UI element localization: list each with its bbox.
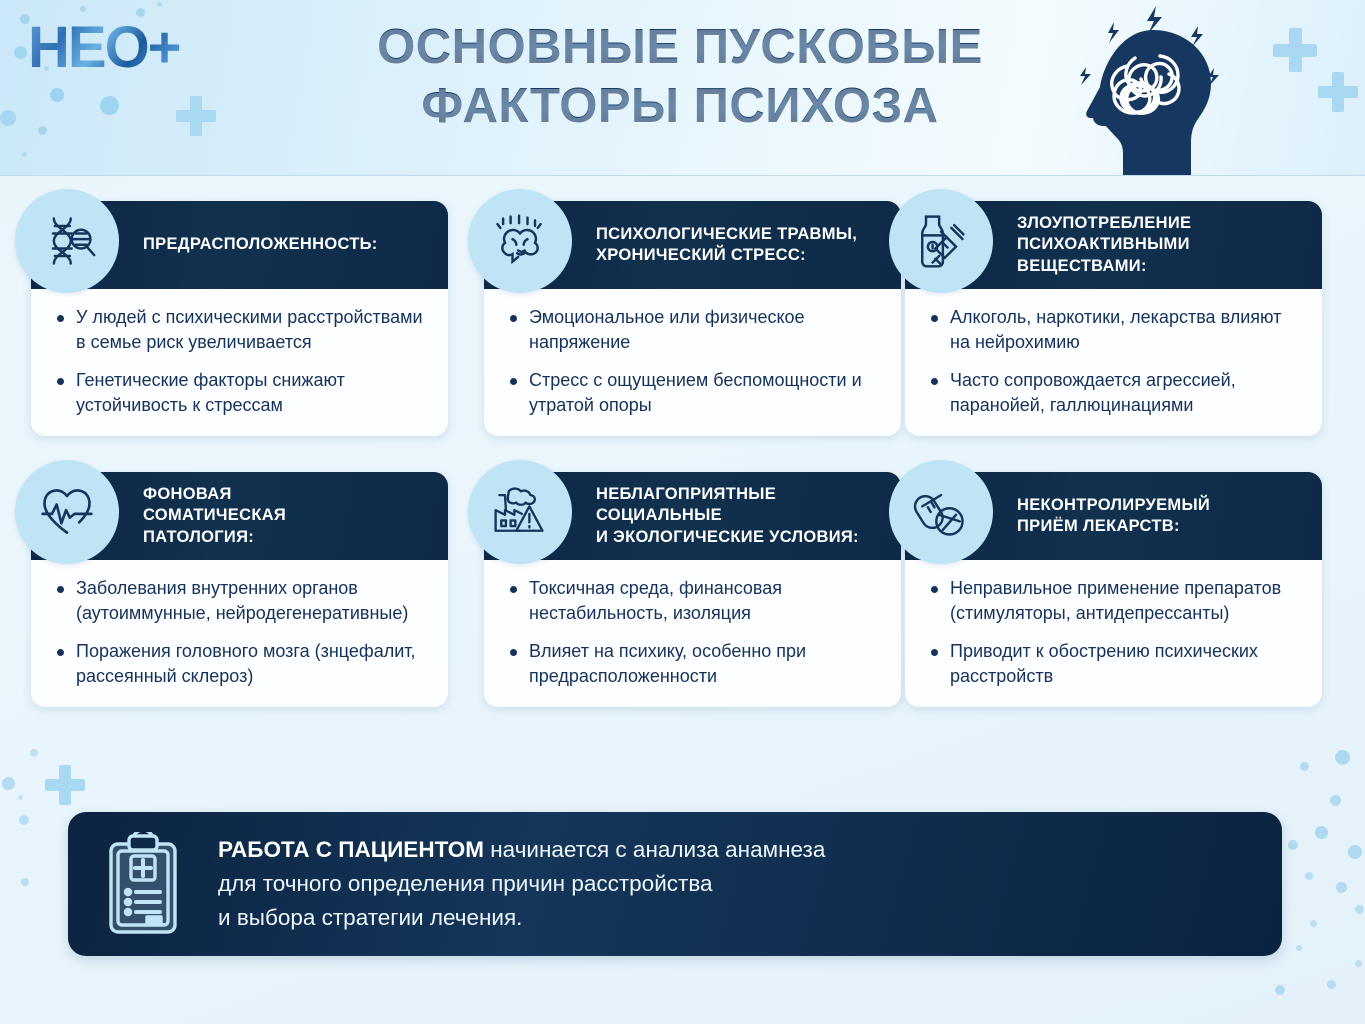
card-header: ЗЛОУПОТРЕБЛЕНИЕ ПСИХОАКТИВНЫМИ ВЕЩЕСТВАМ… <box>905 201 1322 289</box>
decor-dot <box>1300 762 1309 771</box>
decor-dot <box>1355 960 1362 967</box>
decor-dot <box>1348 845 1362 859</box>
list-item: Приводит к обострению психических расстр… <box>925 639 1304 689</box>
decor-dot <box>0 110 16 126</box>
list-item: Алкоголь, наркотики, лекарства влияют на… <box>925 305 1304 355</box>
banner-line-3: и выбора стратегии лечения. <box>218 901 825 935</box>
list-item: Токсичная среда, финансовая нестабильнос… <box>504 576 883 626</box>
brand-logo-text: НЕО+ <box>28 17 198 79</box>
card-header: НЕБЛАГОПРИЯТНЫЕ СОЦИАЛЬНЫЕ И ЭКОЛОГИЧЕСК… <box>484 472 901 560</box>
list-item: Заболевания внутренних органов (аутоимму… <box>51 576 430 626</box>
card-substance-abuse[interactable]: ЗЛОУПОТРЕБЛЕНИЕ ПСИХОАКТИВНЫМИ ВЕЩЕСТВАМ… <box>905 201 1322 436</box>
list-item: Эмоциональное или физическое напряжение <box>504 305 883 355</box>
bullet-list: Эмоциональное или физическое напряжение … <box>504 305 883 418</box>
card-social-ecological[interactable]: НЕБЛАГОПРИЯТНЫЕ СОЦИАЛЬНЫЕ И ЭКОЛОГИЧЕСК… <box>484 472 901 707</box>
list-item: Влияет на психику, особенно при предрасп… <box>504 639 883 689</box>
page-title-line-1: ОСНОВНЫЕ ПУСКОВЫЕ <box>330 18 1030 77</box>
brand-logo[interactable]: НЕО+ <box>28 17 198 79</box>
banner-line-1: РАБОТА С ПАЦИЕНТОМ начинается с анализа … <box>218 833 825 867</box>
list-item: У людей с психическими расстройствами в … <box>51 305 430 355</box>
list-item: Часто сопровождается агрессией, паранойе… <box>925 368 1304 418</box>
card-header: ПСИХОЛОГИЧЕСКИЕ ТРАВМЫ, ХРОНИЧЕСКИЙ СТРЕ… <box>484 201 901 289</box>
header-band: НЕО+ ОСНОВНЫЕ ПУСКОВЫЕ ФАКТОРЫ ПСИХОЗА <box>0 0 1365 176</box>
decor-dot <box>50 88 64 102</box>
banner-text: РАБОТА С ПАЦИЕНТОМ начинается с анализа … <box>218 833 855 935</box>
decor-dot <box>1305 872 1313 880</box>
bullet-list: Алкоголь, наркотики, лекарства влияют на… <box>925 305 1304 418</box>
decor-dot <box>18 795 23 800</box>
bullet-list: У людей с психическими расстройствами в … <box>51 305 430 418</box>
card-body: Заболевания внутренних органов (аутоимму… <box>31 560 448 707</box>
plus-icon <box>45 765 85 805</box>
card-header: ФОНОВАЯ СОМАТИЧЕСКАЯ ПАТОЛОГИЯ: <box>31 472 448 560</box>
bullet-list: Заболевания внутренних органов (аутоимму… <box>51 576 430 689</box>
page-title: ОСНОВНЫЕ ПУСКОВЫЕ ФАКТОРЫ ПСИХОЗА <box>330 18 1030 136</box>
list-item: Поражения головного мозга (знцефалит, ра… <box>51 639 430 689</box>
decor-dot <box>38 126 47 135</box>
head-with-tangled-thoughts-icon <box>1057 4 1247 176</box>
decor-dot <box>21 878 29 886</box>
card-body: Неправильное применение препаратов (стим… <box>905 560 1322 707</box>
card-header: ПРЕДРАСПОЛОЖЕННОСТЬ: <box>31 201 448 289</box>
card-body: Токсичная среда, финансовая нестабильнос… <box>484 560 901 707</box>
stressed-brain-icon <box>468 189 572 293</box>
decor-dot <box>80 6 86 12</box>
card-psychological-trauma[interactable]: ПСИХОЛОГИЧЕСКИЕ ТРАВМЫ, ХРОНИЧЕСКИЙ СТРЕ… <box>484 201 901 436</box>
decor-dot <box>1288 840 1298 850</box>
clipboard-medical-icon <box>68 832 218 936</box>
decor-dot <box>100 96 119 115</box>
decor-dot <box>22 152 27 157</box>
decor-dot <box>1355 905 1364 914</box>
card-body: Алкоголь, наркотики, лекарства влияют на… <box>905 289 1322 436</box>
decor-dot <box>1296 945 1302 951</box>
decor-dot <box>1327 980 1336 989</box>
bullet-list: Неправильное применение препаратов (стим… <box>925 576 1304 689</box>
plus-icon <box>176 96 216 136</box>
decor-dot <box>1310 920 1317 927</box>
decor-dot <box>14 46 27 59</box>
decor-dot <box>1330 795 1341 806</box>
banner-strong: РАБОТА С ПАЦИЕНТОМ <box>218 837 484 862</box>
list-item: Неправильное применение препаратов (стим… <box>925 576 1304 626</box>
bottle-syringe-icon <box>889 189 993 293</box>
infographic-page: НЕО+ ОСНОВНЫЕ ПУСКОВЫЕ ФАКТОРЫ ПСИХОЗА <box>0 0 1365 1024</box>
decor-dot <box>1335 750 1350 765</box>
banner-line-2: для точного определения причин расстройс… <box>218 867 825 901</box>
plus-icon <box>1273 28 1317 72</box>
heart-pulse-icon <box>15 460 119 564</box>
decor-dot <box>1275 985 1285 995</box>
decor-dot <box>30 749 38 757</box>
bottom-banner: РАБОТА С ПАЦИЕНТОМ начинается с анализа … <box>68 812 1282 956</box>
plus-icon <box>1318 72 1358 112</box>
card-header: НЕКОНТРОЛИРУЕМЫЙ ПРИЁМ ЛЕКАРСТВ: <box>905 472 1322 560</box>
decor-dot <box>2 777 15 790</box>
card-uncontrolled-medication[interactable]: НЕКОНТРОЛИРУЕМЫЙ ПРИЁМ ЛЕКАРСТВ: Неправи… <box>905 472 1322 707</box>
decor-dot <box>157 2 162 7</box>
decor-dot <box>19 815 29 825</box>
bullet-list: Токсичная среда, финансовая нестабильнос… <box>504 576 883 689</box>
card-predisposition[interactable]: ПРЕДРАСПОЛОЖЕННОСТЬ: У людей с психическ… <box>31 201 448 436</box>
card-body: Эмоциональное или физическое напряжение … <box>484 289 901 436</box>
banner-rest: начинается с анализа анамнеза <box>484 837 825 862</box>
list-item: Стресс с ощущением беспомощности и утрат… <box>504 368 883 418</box>
decor-dot <box>1315 826 1328 839</box>
card-body: У людей с психическими расстройствами в … <box>31 289 448 436</box>
page-title-line-2: ФАКТОРЫ ПСИХОЗА <box>330 77 1030 136</box>
list-item: Генетические факторы снижают устойчивост… <box>51 368 430 418</box>
pills-icon <box>889 460 993 564</box>
dna-magnifier-icon <box>15 189 119 293</box>
decor-dot <box>1336 882 1347 893</box>
factory-warning-icon <box>468 460 572 564</box>
card-somatic-pathology[interactable]: ФОНОВАЯ СОМАТИЧЕСКАЯ ПАТОЛОГИЯ: Заболева… <box>31 472 448 707</box>
